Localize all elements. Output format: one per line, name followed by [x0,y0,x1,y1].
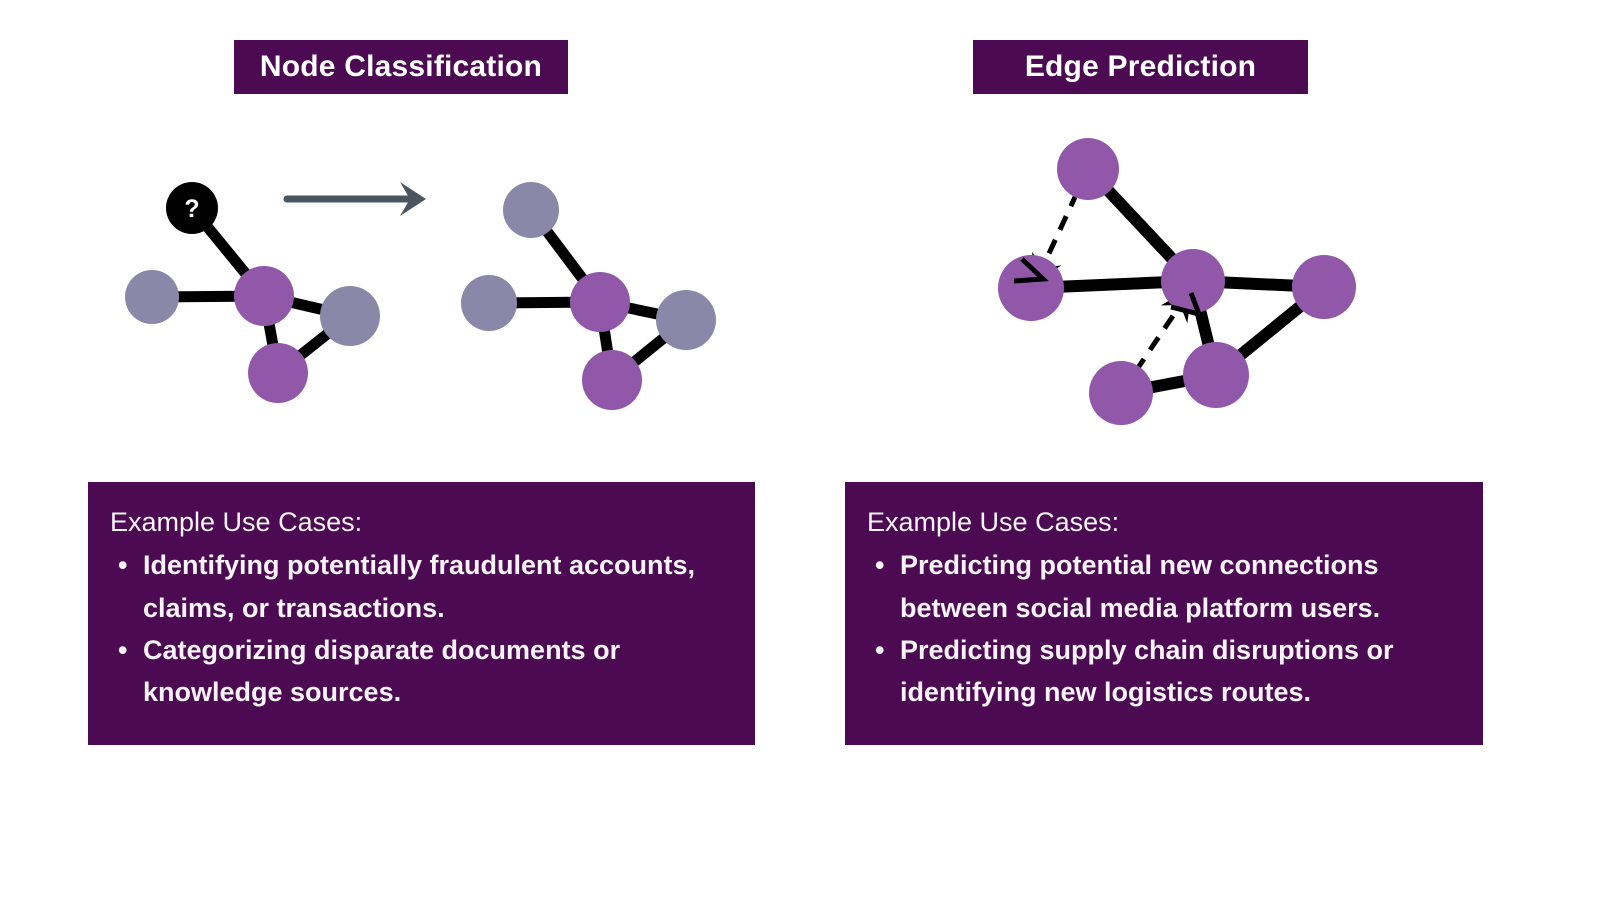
graph-node-right-light [656,290,716,350]
graph-node-center-dark [570,272,630,332]
graph-node-left-light [125,270,179,324]
before-graph-nodes: ? [125,182,380,403]
bullet-icon: • [118,629,127,671]
list-item-text: Predicting supply chain disruptions or i… [900,629,1465,713]
bullet-icon: • [875,544,884,586]
graph-node-bottom-dark [582,350,642,410]
bullet-icon: • [118,544,127,586]
graph-node-far-right [1292,255,1356,319]
panel-node-classification: Node Classification ? [0,0,800,900]
usecases-list: • Predicting potential new connections b… [867,544,1465,712]
edge-prediction-diagram [800,0,1600,470]
usecases-heading: Example Use Cases: [867,506,1465,538]
usecases-heading: Example Use Cases: [110,506,737,538]
usecases-list: • Identifying potentially fraudulent acc… [110,544,737,712]
node-classification-diagram: ? [0,0,800,470]
list-item-text: Predicting potential new connections bet… [900,544,1465,628]
graph-node-center-dark [234,266,294,326]
graph-node-right-light [320,286,380,346]
graph-node-left-light [461,275,517,331]
usecases-box-node-classification: Example Use Cases: • Identifying potenti… [88,482,755,745]
unknown-node-question-mark: ? [184,195,199,223]
list-item: • Categorizing disparate documents or kn… [110,629,737,713]
list-item-text: Categorizing disparate documents or know… [143,629,737,713]
list-item: • Predicting potential new connections b… [867,544,1465,628]
transform-arrow-icon [287,182,426,216]
graph-node-bottom-mid [1183,342,1249,408]
usecases-box-edge-prediction: Example Use Cases: • Predicting potentia… [845,482,1483,745]
list-item: • Predicting supply chain disruptions or… [867,629,1465,713]
graph-node-bottom-left [1089,361,1153,425]
list-item-text: Identifying potentially fraudulent accou… [143,544,737,628]
list-item: • Identifying potentially fraudulent acc… [110,544,737,628]
after-graph-nodes [461,182,716,410]
graph-node-classified [503,182,559,238]
graph-node-top [1057,138,1119,200]
bullet-icon: • [875,629,884,671]
graph-node-bottom-dark [248,343,308,403]
panel-edge-prediction: Edge Prediction [800,0,1600,900]
